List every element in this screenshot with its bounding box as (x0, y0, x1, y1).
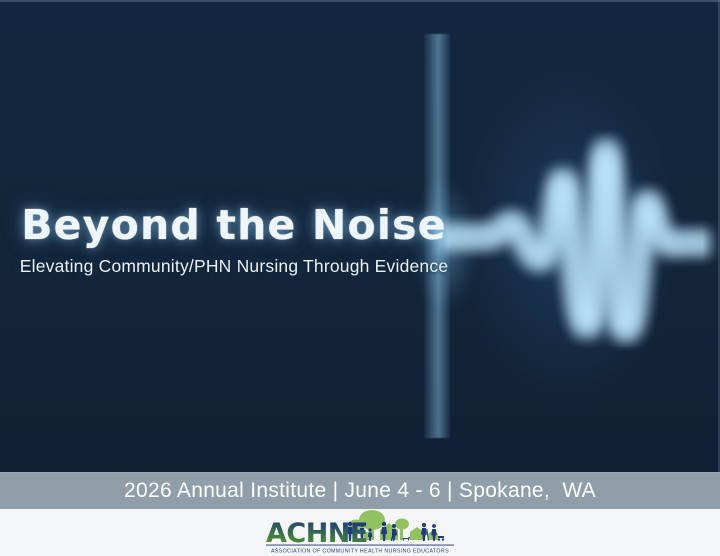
svg-text:ACHNE: ACHNE (266, 518, 368, 549)
conference-poster: Beyond the Noise Elevating Community/PHN… (0, 0, 720, 556)
event-info-banner: 2026 Annual Institute | June 4 - 6 | Spo… (0, 472, 720, 509)
svg-text:ASSOCIATION OF COMMUNITY HEALT: ASSOCIATION OF COMMUNITY HEALTH NURSING … (271, 548, 449, 554)
poster-subtitle: Elevating Community/PHN Nursing Through … (14, 256, 454, 277)
title-block: Beyond the Noise Elevating Community/PHN… (14, 204, 454, 277)
logo-area: ACHNE ASSOCIATION OF COMMUNITY HEALTH NU… (0, 509, 720, 556)
achne-logo: ACHNE ASSOCIATION OF COMMUNITY HEALTH NU… (252, 510, 468, 556)
event-info-text: 2026 Annual Institute | June 4 - 6 | Spo… (124, 479, 596, 503)
hero-banner: Beyond the Noise Elevating Community/PHN… (0, 0, 720, 472)
hero-top-edge (0, 0, 720, 2)
poster-title: Beyond the Noise (14, 204, 454, 247)
